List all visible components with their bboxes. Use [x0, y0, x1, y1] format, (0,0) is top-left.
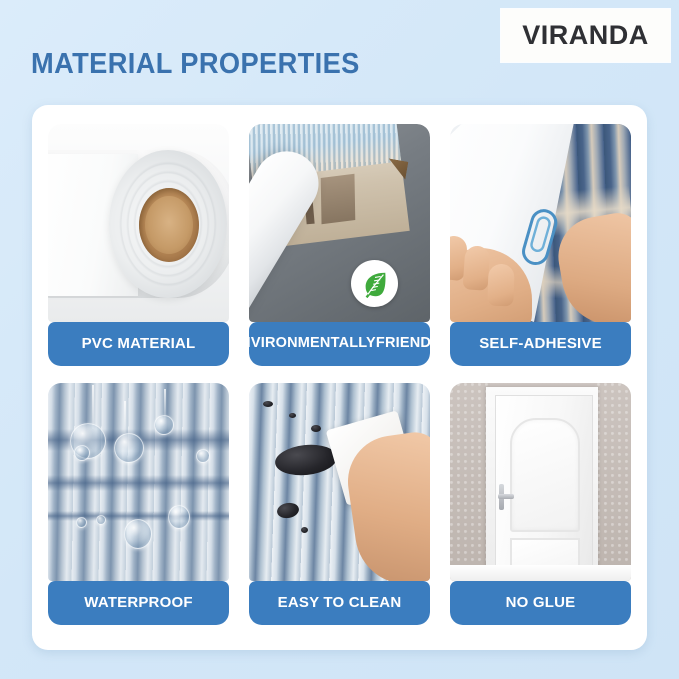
door-handle: [498, 494, 514, 499]
card-label-easy-to-clean: EASY TO CLEAN: [249, 581, 430, 625]
wall-left: [450, 383, 490, 581]
peeling-wallpaper-photo: [249, 124, 430, 322]
feature-card-self-adhesive[interactable]: SELF-ADHESIVE: [450, 124, 631, 366]
stain-small-3: [311, 425, 321, 432]
droplet-trail-1: [92, 385, 94, 429]
card-label-self-adhesive: SELF-ADHESIVE: [450, 322, 631, 366]
water-droplet-9: [196, 449, 210, 463]
water-droplet-8: [96, 515, 106, 525]
skirting-board: [450, 565, 631, 581]
feature-card-easy-to-clean[interactable]: EASY TO CLEAN: [249, 383, 430, 625]
feature-card-waterproof[interactable]: WATERPROOF: [48, 383, 229, 625]
wall-right: [597, 383, 631, 581]
card-label-environmentally-friendly: ENVIRONMENTALLY FRIENDLY: [249, 322, 430, 366]
brand-logo-box: VIRANDA: [501, 9, 670, 62]
card-label-pvc-material: PVC MATERIAL: [48, 322, 229, 366]
hands-peeling-backing-photo: [450, 124, 631, 322]
feature-card-environmentally-friendly[interactable]: ENVIRONMENTALLY FRIENDLY: [249, 124, 430, 366]
feature-card-no-glue[interactable]: NO GLUE: [450, 383, 631, 625]
feature-card-pvc-material[interactable]: PVC MATERIAL: [48, 124, 229, 366]
label-line-2: FRIENDLY: [376, 336, 430, 351]
water-droplet-7: [76, 517, 87, 528]
label-line-1: ENVIRONMENTALLY: [249, 336, 376, 351]
pier-structure: [321, 174, 356, 224]
stain-small-1: [263, 401, 273, 407]
pvc-roll-photo: [48, 124, 229, 322]
stain-small-4: [301, 527, 308, 533]
roll-core-inner: [145, 196, 193, 254]
finger-2: [462, 245, 490, 291]
dark-band-2: [48, 475, 229, 491]
leaf-badge: [351, 260, 398, 307]
water-droplet-4: [74, 445, 90, 461]
page-title: MATERIAL PROPERTIES: [31, 48, 360, 81]
leaf-icon: [360, 269, 390, 299]
hand-wiping-stain-photo: [249, 383, 430, 581]
water-droplet-5: [124, 519, 152, 549]
water-droplets-photo: [48, 383, 229, 581]
content-panel: PVC MATERIAL: [32, 105, 647, 650]
water-droplet-2: [114, 433, 144, 463]
water-droplet-6: [168, 505, 190, 529]
water-droplet-3: [154, 415, 174, 435]
white-door-photo: [450, 383, 631, 581]
door-panel-top: [510, 418, 580, 532]
card-label-waterproof: WATERPROOF: [48, 581, 229, 625]
droplet-trail-2: [124, 401, 126, 433]
card-label-no-glue: NO GLUE: [450, 581, 631, 625]
brand-name: VIRANDA: [522, 20, 649, 51]
finger-3: [487, 264, 514, 307]
stain-small-2: [289, 413, 296, 418]
white-door: [495, 395, 593, 579]
feature-grid: PVC MATERIAL: [48, 124, 631, 625]
